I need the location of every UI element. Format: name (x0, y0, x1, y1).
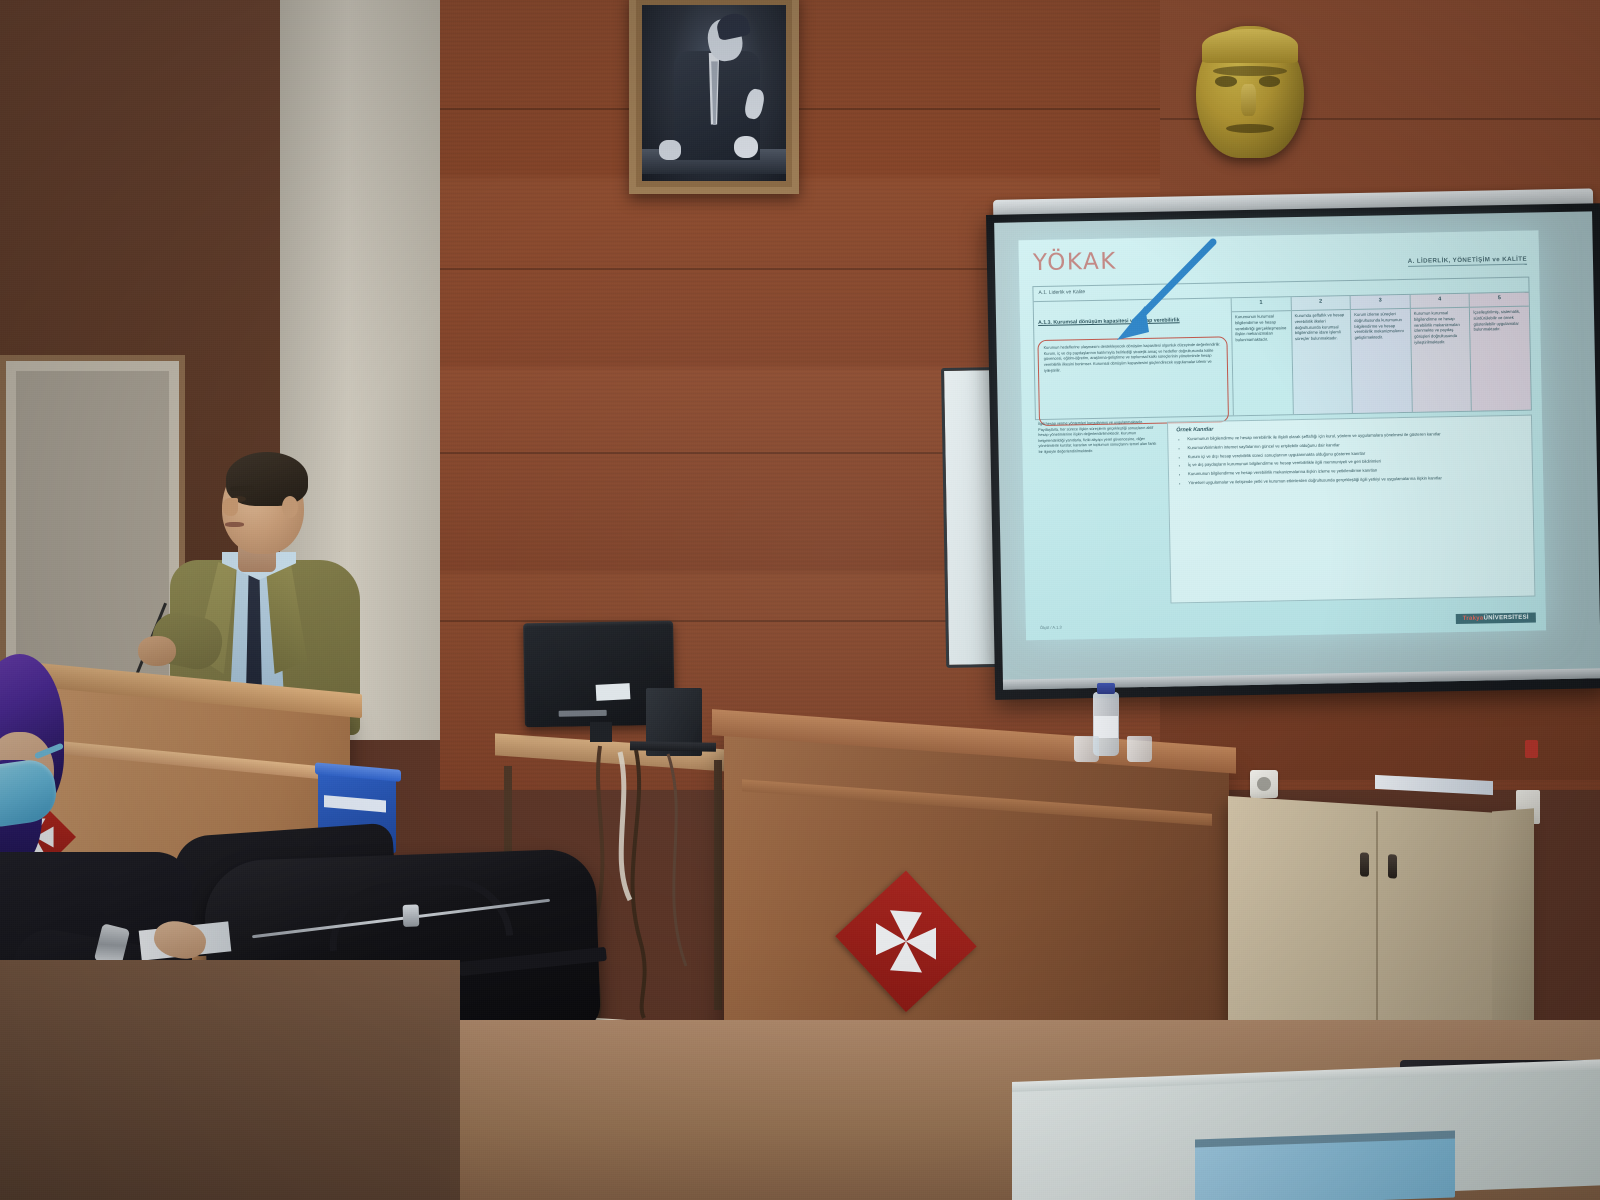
rubric-level-1-text: Kurumunun kurumsal bilgilendirme ve hesa… (1235, 313, 1288, 343)
rubric-level-4-number: 4 (1410, 294, 1469, 309)
slide-footer-note: Ölçüt / A.1.3 (1040, 625, 1062, 630)
highlighted-criterion-box: Kurumun hedeflerine ulaşmasını destekley… (1037, 336, 1229, 426)
blue-folder (1195, 1135, 1455, 1200)
rubric-level-4-text: Kurumun kurumsal bilgilendirme ve hesap … (1414, 310, 1467, 346)
yokak-logo: YÖKAK (1033, 248, 1117, 276)
rubric-level-2-number: 2 (1291, 296, 1350, 311)
criterion-paragraph-2: İlgili hesap verme yöntemleri kurgulanmı… (1038, 420, 1161, 455)
brand-suffix: ÜNİVERSİTESİ (1483, 615, 1528, 622)
rubric-level-5: 5 İçselleştirilmiş, sistematik, sürdürül… (1470, 293, 1531, 411)
ataturk-portrait-image (642, 5, 786, 181)
rubric-level-4: 4 Kurumun kurumsal bilgilendirme ve hesa… (1410, 294, 1472, 412)
monitor-stand (590, 722, 612, 742)
evidence-panel: Örnek Kanıtlar Kurumunun bilgilendirme v… (1167, 415, 1535, 604)
floor-left (0, 960, 460, 1200)
rubric-level-5-number: 5 (1470, 293, 1529, 308)
rubric-level-2: 2 Kurumda şeffaflık ve hesap verebilirli… (1291, 296, 1353, 414)
projection-screen: YÖKAK A. LİDERLİK, YÖNETİŞİM ve KALİTE A… (986, 203, 1600, 700)
rubric-criterion-cell: A.1.3. Kurumsal dönüşüm kapasitesi ve he… (1034, 298, 1234, 419)
rubric-level-1: 1 Kurumunun kurumsal bilgilendirme ve he… (1232, 297, 1294, 415)
university-brand-logo: TrakyaÜNİVERSİTESİ (1456, 613, 1536, 625)
conference-hall-photo: YÖKAK A. LİDERLİK, YÖNETİŞİM ve KALİTE A… (0, 0, 1600, 1200)
slide-section-header: A. LİDERLİK, YÖNETİŞİM ve KALİTE (1408, 256, 1527, 267)
rubric-criterion-title: A.1.3. Kurumsal dönüşüm kapasitesi ve he… (1038, 316, 1227, 326)
rubric-level-3-text: Kurum izleme süreçleri doğrultusunda kur… (1354, 311, 1407, 341)
paper-note (596, 683, 631, 701)
ataturk-portrait-frame (629, 0, 799, 194)
criterion-paragraph-1: Kurumun hedeflerine ulaşmasını destekley… (1044, 342, 1223, 374)
evidence-list: Kurumunun bilgilendirme ve hesap verebil… (1176, 430, 1524, 487)
rubric-level-1-number: 1 (1232, 297, 1291, 312)
drinking-glass (1074, 736, 1099, 762)
projected-slide: YÖKAK A. LİDERLİK, YÖNETİŞİM ve KALİTE A… (1018, 230, 1546, 640)
university-emblem-icon (835, 871, 976, 1012)
storage-cabinet[interactable] (1228, 796, 1526, 1047)
rubric-level-2-text: Kurumda şeffaflık ve hesap verebilirlik … (1295, 312, 1348, 342)
rubric-level-5-text: İçselleştirilmiş, sistematik, sürdürüleb… (1473, 309, 1526, 333)
rubric-level-3-number: 3 (1351, 295, 1410, 310)
rubric-table: A.1. Liderlik ve Kalite A.1.3. Kurumsal … (1032, 277, 1531, 421)
emergency-switch[interactable] (1525, 740, 1538, 758)
brand-name: Trakya (1463, 616, 1484, 622)
ataturk-gold-mask-icon (1196, 26, 1304, 158)
drinking-glass (1127, 736, 1152, 762)
power-outlet[interactable] (1250, 770, 1278, 798)
rubric-level-3: 3 Kurum izleme süreçleri doğrultusunda k… (1351, 295, 1413, 413)
